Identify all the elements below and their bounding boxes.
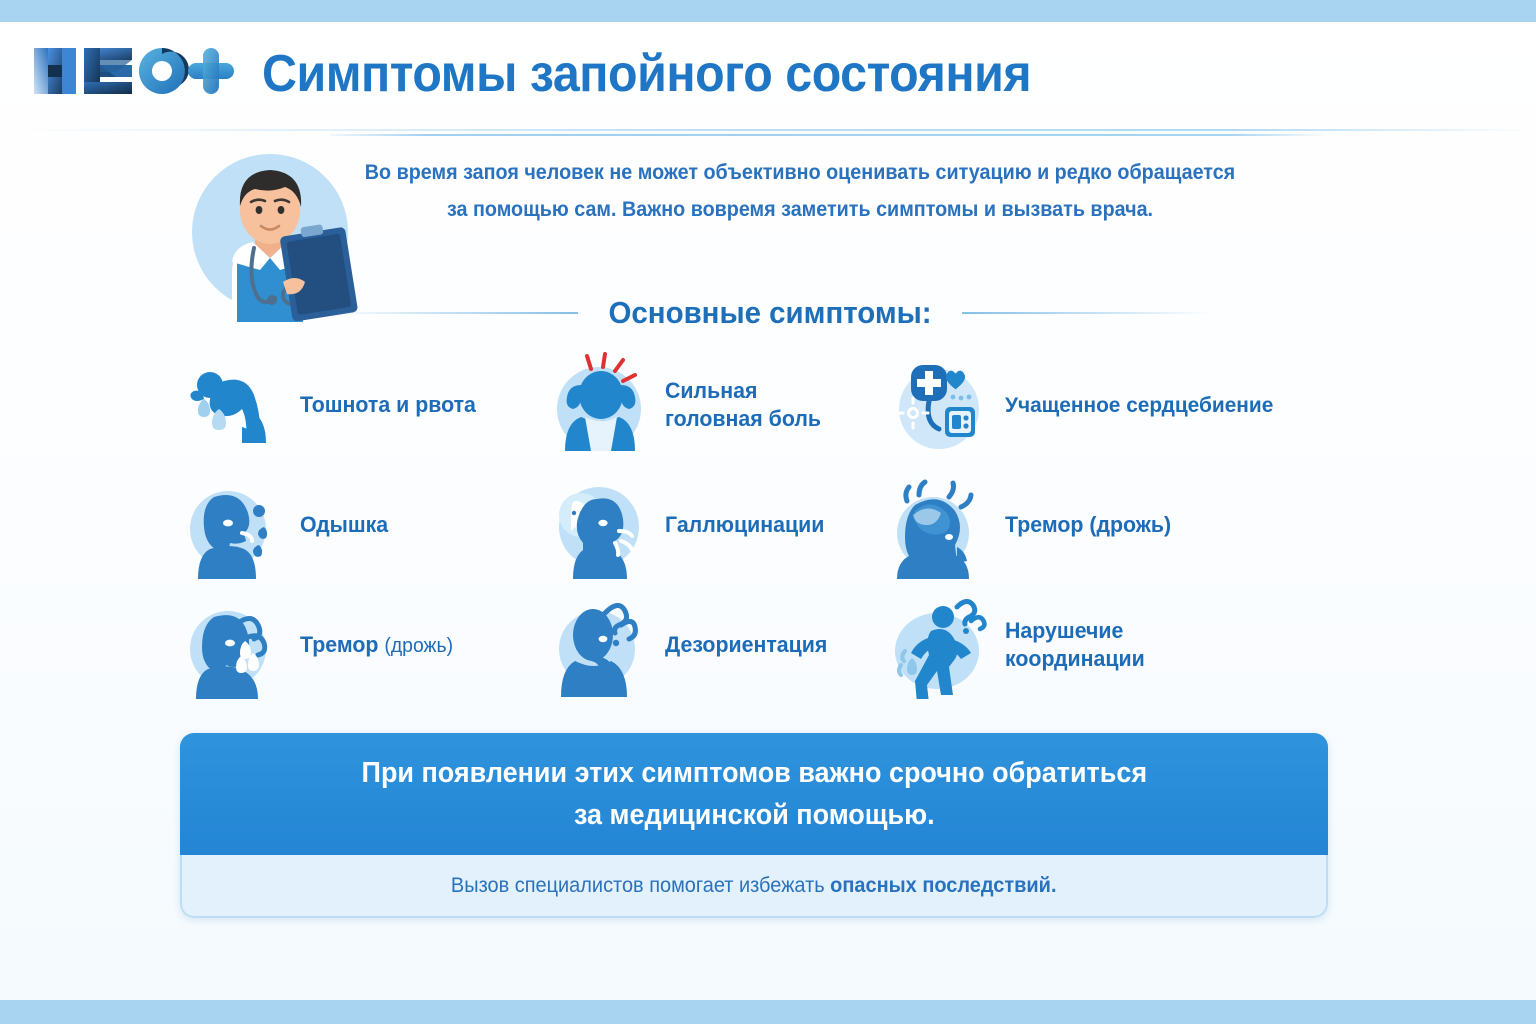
symptom-item-nausea: Тошнота и рвота — [180, 345, 545, 465]
neo-plus-logo — [32, 42, 237, 100]
symptom-label: Нарушечие координации — [1005, 617, 1145, 673]
heading-rule-left — [330, 312, 578, 314]
symptom-label: Тремор (дрожь) — [300, 631, 453, 660]
call-to-action-banner: При появлении этих симптомов важно срочн… — [180, 733, 1328, 918]
confused-person-icon — [545, 591, 653, 699]
symptom-item-coordination: Нарушечие координации — [885, 585, 1350, 705]
symptom-label: Тремор (дрожь) — [1005, 511, 1171, 539]
trembling-head-hands-icon — [885, 471, 993, 579]
symptom-label: Одышка — [300, 511, 388, 539]
symptom-item-headache: Сильная головная боль — [545, 345, 885, 465]
cta-primary-message: При появлении этих симптомов важно срочн… — [180, 733, 1328, 855]
vomiting-person-icon — [180, 351, 288, 459]
symptom-item-tremor-sweat: Тремор (дрожь) — [180, 585, 545, 705]
top-accent-band — [0, 0, 1536, 22]
symptom-item-tremor-head: Тремор (дрожь) — [885, 465, 1350, 585]
loss-of-coordination-icon — [885, 591, 993, 699]
symptom-item-tachycardia: Учащенное сердцебиение — [885, 345, 1350, 465]
symptoms-grid: Тошнота и рвота Сильная головная боль — [180, 345, 1350, 705]
symptom-label: Сильная головная боль — [665, 377, 821, 433]
symptom-label: Учащенное сердцебиение — [1005, 391, 1273, 419]
cta-line-1: При появлении этих симптомов важно срочн… — [361, 757, 1147, 789]
cta-line-2: за медицинской помощью. — [574, 799, 935, 831]
shortness-of-breath-icon — [180, 471, 288, 579]
symptom-label-line-2: координации — [1005, 646, 1145, 671]
header-divider — [0, 129, 1536, 131]
symptom-label-line-1: Нарушечие — [1005, 618, 1123, 643]
section-heading: Основные симптомы: — [330, 290, 1210, 336]
cta-sub-plain: Вызов специалистов помогает избежать — [451, 874, 830, 897]
infographic-poster: Симптомы запойного состояния — [0, 0, 1536, 1024]
symptom-label: Дезориентация — [665, 631, 827, 659]
intro-line-1: Во время запоя человек не может объектив… — [349, 154, 1251, 191]
symptom-label: Тошнота и рвота — [300, 391, 476, 419]
intro-divider — [330, 134, 1330, 136]
heading-rule-right — [962, 312, 1210, 314]
hallucination-ghost-icon — [545, 471, 653, 579]
symptom-label-line-2: головная боль — [665, 406, 821, 431]
symptom-label-note: (дрожь) — [384, 635, 453, 657]
symptom-label-main: Тремор — [300, 632, 378, 657]
blood-pressure-monitor-icon — [885, 351, 993, 459]
cta-sub-bold: опасных последствий. — [830, 874, 1056, 897]
headache-person-icon — [545, 351, 653, 459]
section-heading-text: Основные симптомы: — [608, 295, 931, 331]
sweating-person-icon — [180, 591, 288, 699]
page-title: Симптомы запойного состояния — [262, 44, 1031, 104]
bottom-accent-band — [0, 1000, 1536, 1024]
cta-secondary-message: Вызов специалистов помогает избежать опа… — [180, 855, 1328, 918]
symptom-item-disorientation: Дезориентация — [545, 585, 885, 705]
symptom-label: Галлюцинации — [665, 511, 824, 539]
symptom-item-hallucinations: Галлюцинации — [545, 465, 885, 585]
intro-block: Во время запоя человек не может объектив… — [175, 132, 1355, 292]
symptom-label-line-1: Сильная — [665, 378, 757, 403]
intro-paragraph: Во время запоя человек не может объектив… — [349, 154, 1251, 228]
poster-header: Симптомы запойного состояния — [0, 22, 1536, 129]
intro-line-2: за помощью сам. Важно вовремя заметить с… — [349, 191, 1251, 228]
symptom-item-dyspnea: Одышка — [180, 465, 545, 585]
